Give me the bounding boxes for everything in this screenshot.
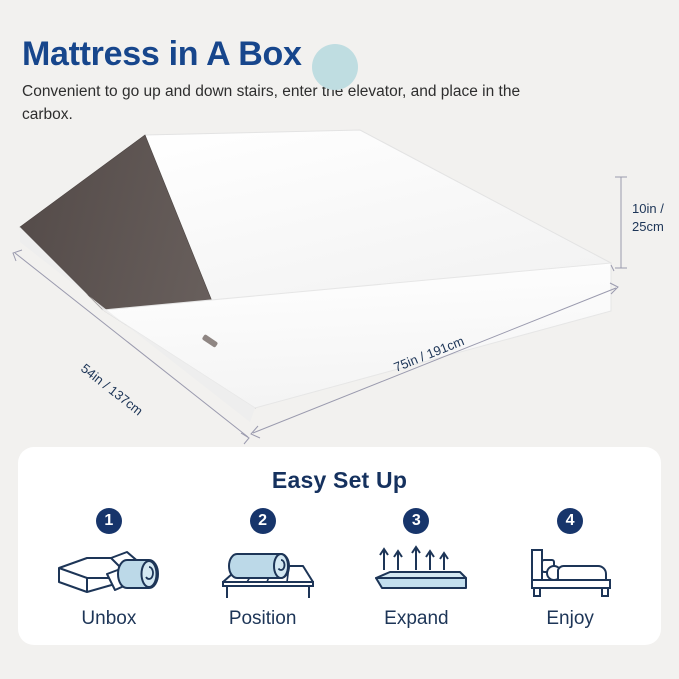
easy-setup-card: Easy Set Up 1 Unbox — [18, 447, 661, 645]
step-label: Unbox — [81, 608, 136, 630]
dimension-height-line — [611, 177, 627, 271]
step-number-badge: 2 — [250, 508, 276, 534]
setup-title: Easy Set Up — [18, 447, 661, 494]
product-illustration: 10in / 25cm 75in / 191cm 54in / 137cm — [0, 120, 679, 450]
setup-step-expand: 3 Expand — [346, 508, 486, 630]
step-number-badge: 4 — [557, 508, 583, 534]
step-art — [53, 540, 165, 602]
step-art — [514, 540, 626, 602]
step-label: Enjoy — [546, 608, 594, 630]
header: Mattress in A Box Convenient to go up an… — [22, 36, 662, 126]
title-accent-circle — [312, 44, 358, 90]
step-art — [207, 540, 319, 602]
mattress-box-svg: 10in / 25cm 75in / 191cm 54in / 137cm — [0, 120, 679, 450]
setup-step-enjoy: 4 Enjoy — [500, 508, 640, 630]
setup-step-position: 2 Position — [193, 508, 333, 630]
dimension-width-label: 54in / 137cm — [78, 361, 146, 419]
step-number-badge: 3 — [403, 508, 429, 534]
roll-on-bed-base-icon — [207, 544, 319, 602]
setup-step-unbox: 1 Unbox — [39, 508, 179, 630]
dimension-height-label-line2: 25cm — [632, 219, 664, 234]
page-title: Mattress in A Box — [22, 36, 302, 73]
setup-steps: 1 Unbox 2 — [18, 494, 661, 630]
step-art — [360, 540, 472, 602]
box-with-roll-icon — [53, 546, 165, 602]
mattress-expanding-arrows-icon — [360, 544, 472, 602]
step-label: Expand — [384, 608, 448, 630]
step-label: Position — [229, 608, 297, 630]
dimension-height-label-line1: 10in / — [632, 201, 664, 216]
step-number-badge: 1 — [96, 508, 122, 534]
person-sleeping-in-bed-icon — [514, 544, 626, 602]
page-title-wrap: Mattress in A Box — [22, 36, 302, 73]
